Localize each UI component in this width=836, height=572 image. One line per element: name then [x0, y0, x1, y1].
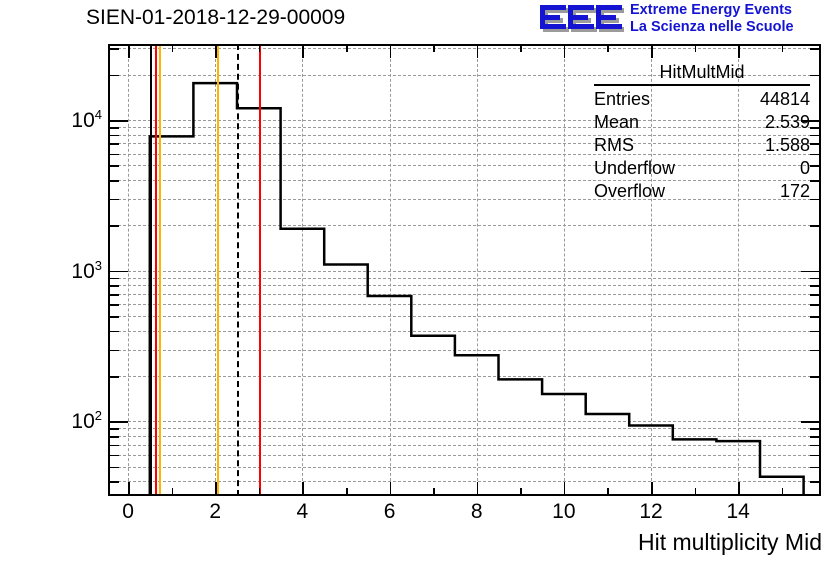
- stats-key: Underflow: [594, 157, 675, 180]
- x-axis-tick-label: 14: [727, 500, 750, 524]
- x-axis-tick-label: 8: [471, 500, 483, 524]
- x-axis-tick: [346, 488, 348, 496]
- x-axis-tick: [215, 482, 217, 496]
- y-axis-tick-label: 104: [71, 107, 102, 133]
- x-axis-title: Hit multiplicity Mid: [638, 529, 822, 556]
- eee-logo-mark-icon: [538, 3, 624, 37]
- y-axis-tick-label: 102: [71, 408, 102, 434]
- x-axis-tick: [738, 482, 740, 496]
- x-axis-tick: [651, 482, 653, 496]
- stats-key: Mean: [594, 111, 639, 134]
- x-axis-tick-label: 10: [552, 500, 575, 524]
- y-axis-tick: [108, 75, 119, 77]
- x-axis-tick-top: [651, 44, 653, 58]
- y-axis-tick: [108, 278, 119, 280]
- x-axis-tick: [520, 488, 522, 496]
- y-axis-tick: [108, 455, 119, 457]
- y-axis-tick-right: [810, 225, 821, 227]
- x-axis-tick: [564, 482, 566, 496]
- y-axis-tick: [108, 421, 128, 423]
- x-axis-tick-label: 4: [297, 500, 309, 524]
- y-axis-tick: [108, 154, 119, 156]
- y-axis-tick: [108, 467, 119, 469]
- x-axis-tick-top: [259, 44, 261, 52]
- x-axis-tick-top: [520, 44, 522, 52]
- y-axis-tick: [108, 304, 119, 306]
- page-title: SIEN-01-2018-12-29-00009: [86, 6, 345, 30]
- y-axis-tick: [108, 143, 119, 145]
- y-axis-tick: [108, 180, 119, 182]
- stats-row: RMS1.588: [588, 134, 816, 157]
- y-axis-tick-right: [810, 428, 821, 430]
- y-axis-tick: [108, 120, 128, 122]
- y-axis-tick-right: [801, 421, 821, 423]
- x-axis-tick: [390, 482, 392, 496]
- x-axis-tick: [172, 488, 174, 496]
- y-axis-tick-right: [810, 481, 821, 483]
- x-axis-tick-top: [695, 44, 697, 52]
- x-axis-tick-top: [390, 44, 392, 58]
- x-axis-tick-label: 6: [384, 500, 396, 524]
- y-axis-tick: [108, 271, 128, 273]
- x-axis-tick-label: 12: [639, 500, 662, 524]
- x-axis-tick-label: 0: [122, 500, 134, 524]
- y-axis-tick-right: [810, 376, 821, 378]
- eee-logo-line2: La Scienza nelle Scuole: [630, 19, 794, 36]
- y-axis-tick: [108, 285, 119, 287]
- x-axis-tick-top: [433, 44, 435, 52]
- eee-logo: Extreme Energy Events La Scienza nelle S…: [538, 2, 834, 40]
- stats-key: Entries: [594, 88, 650, 111]
- x-axis-tick-top: [346, 44, 348, 52]
- y-axis-tick: [108, 350, 119, 352]
- x-axis-tick: [695, 488, 697, 496]
- stats-value: 44814: [760, 88, 810, 111]
- x-axis-tick-top: [782, 44, 784, 52]
- stats-rows: Entries44814Mean2.539RMS1.588Underflow0O…: [588, 88, 816, 203]
- y-axis-tick: [108, 428, 119, 430]
- y-axis-tick: [108, 135, 119, 137]
- y-axis-tick-right: [810, 304, 821, 306]
- y-axis-tick-right: [810, 445, 821, 447]
- stats-value: 1.588: [765, 134, 810, 157]
- x-axis-tick-top: [172, 44, 174, 52]
- y-axis-tick: [108, 225, 119, 227]
- y-axis-tick: [108, 445, 119, 447]
- x-axis-tick-top: [215, 44, 217, 58]
- y-axis-tick-right: [810, 48, 821, 50]
- x-axis-tick: [128, 482, 130, 496]
- x-axis-tick: [433, 488, 435, 496]
- eee-logo-line1: Extreme Energy Events: [630, 2, 794, 19]
- y-axis-labels: 102103104: [0, 0, 102, 572]
- y-axis-tick: [108, 376, 119, 378]
- x-axis-tick-top: [302, 44, 304, 58]
- x-axis-tick-top: [128, 44, 130, 58]
- y-axis-tick: [108, 199, 119, 201]
- y-axis-tick-right: [810, 331, 821, 333]
- y-axis-tick: [108, 331, 119, 333]
- stats-value: 2.539: [765, 111, 810, 134]
- stats-value: 172: [780, 180, 810, 203]
- eee-logo-text: Extreme Energy Events La Scienza nelle S…: [630, 2, 794, 36]
- x-axis-tick-top: [738, 44, 740, 58]
- x-axis-tick-top: [477, 44, 479, 58]
- stats-row: Underflow0: [588, 157, 816, 180]
- y-axis-tick-label: 103: [71, 258, 102, 284]
- statistics-box: HitMultMid Entries44814Mean2.539RMS1.588…: [588, 62, 816, 203]
- y-axis-tick-right: [801, 271, 821, 273]
- y-axis-tick-right: [810, 285, 821, 287]
- y-axis-tick-right: [810, 316, 821, 318]
- y-axis-tick: [108, 165, 119, 167]
- x-axis-tick: [607, 488, 609, 496]
- x-axis-tick-top: [607, 44, 609, 52]
- stats-title: HitMultMid: [594, 62, 810, 86]
- y-axis-tick: [108, 48, 119, 50]
- stats-key: Overflow: [594, 180, 665, 203]
- y-axis-tick: [108, 127, 119, 129]
- y-axis-tick-right: [810, 294, 821, 296]
- y-axis-tick: [108, 316, 119, 318]
- y-axis-tick: [108, 481, 119, 483]
- x-axis-tick: [259, 488, 261, 496]
- x-axis-tick: [302, 482, 304, 496]
- y-axis-tick-right: [810, 455, 821, 457]
- stats-key: RMS: [594, 134, 634, 157]
- stats-row: Mean2.539: [588, 111, 816, 134]
- stats-row: Entries44814: [588, 88, 816, 111]
- y-axis-tick: [108, 294, 119, 296]
- x-axis-tick-top: [564, 44, 566, 58]
- x-axis-tick-label: 2: [209, 500, 221, 524]
- y-axis-tick-right: [810, 436, 821, 438]
- x-axis-tick: [477, 482, 479, 496]
- y-axis-tick-right: [810, 278, 821, 280]
- y-axis-tick: [108, 436, 119, 438]
- plot-canvas: SIEN-01-2018-12-29-00009: [0, 0, 836, 572]
- x-axis-tick: [782, 488, 784, 496]
- y-axis-tick-right: [810, 467, 821, 469]
- stats-row: Overflow172: [588, 180, 816, 203]
- stats-value: 0: [800, 157, 810, 180]
- y-axis-tick-right: [810, 350, 821, 352]
